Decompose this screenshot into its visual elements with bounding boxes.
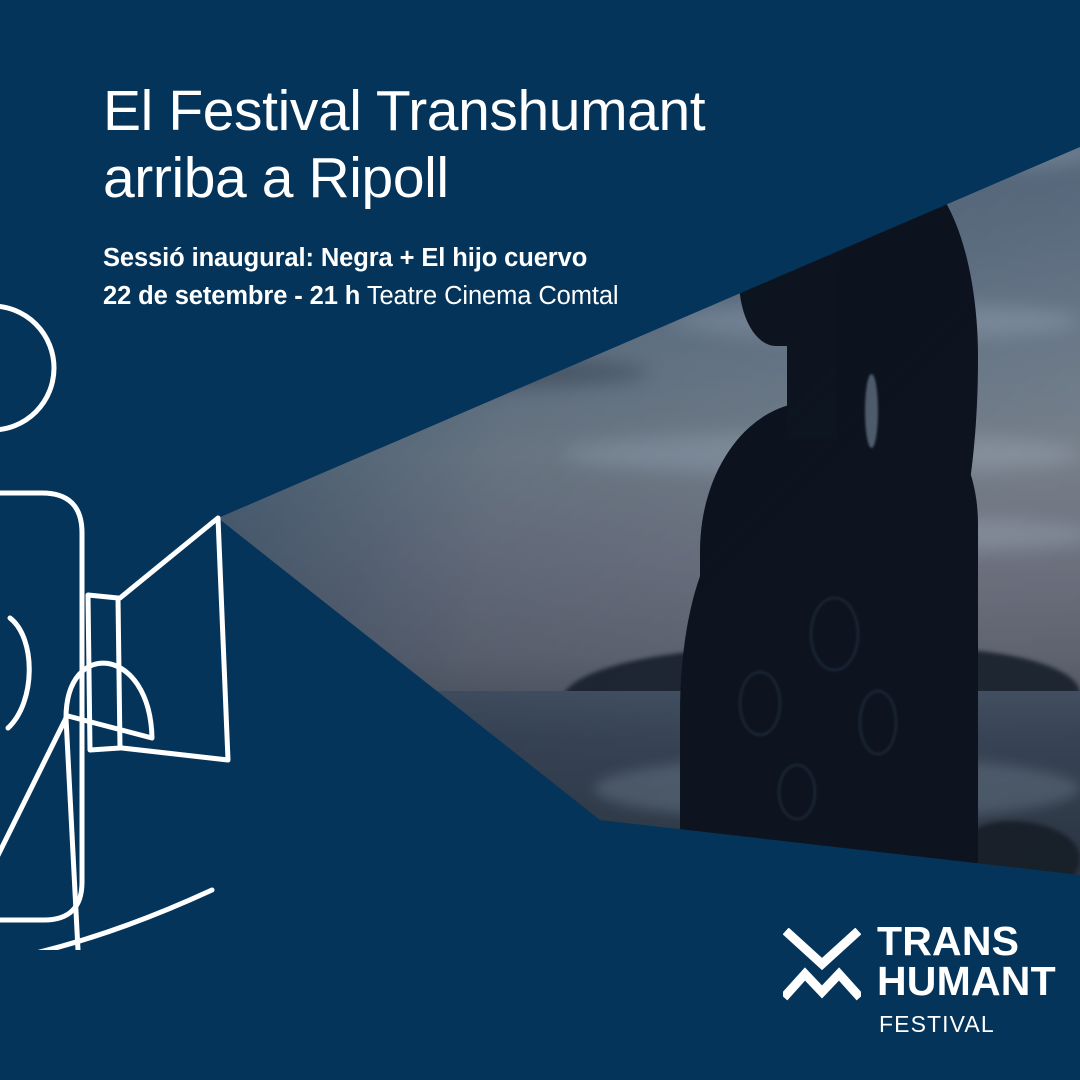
- logo-word-trans: TRANS: [877, 922, 1056, 962]
- film-reel-lower: [8, 618, 29, 728]
- logo-wordmark: TRANS HUMANT FESTIVAL: [877, 922, 1056, 1038]
- cloud-band: [756, 130, 1080, 173]
- session-label: Sessió inaugural: Negra + El hijo cuervo: [103, 244, 587, 272]
- text-block: El Festival Transhumant arriba a Ripoll …: [103, 78, 763, 315]
- venue: Teatre Cinema Comtal: [367, 282, 619, 310]
- date-time: 22 de setembre - 21 h: [103, 282, 360, 310]
- camera-body: [0, 493, 82, 920]
- festival-logo: TRANS HUMANT FESTIVAL: [783, 922, 1056, 1038]
- tripod-leg-left: [0, 718, 66, 940]
- subtitle-group: Sessió inaugural: Negra + El hijo cuervo…: [103, 240, 763, 314]
- logo-word-humant: HUMANT: [877, 962, 1056, 1002]
- film-reel-upper: [0, 306, 54, 430]
- poster-canvas: El Festival Transhumant arriba a Ripoll …: [0, 0, 1080, 1080]
- chevron-down-icon: [789, 934, 855, 964]
- headline-line-1: El Festival Transhumant: [103, 79, 705, 143]
- page-title: El Festival Transhumant arriba a Ripoll: [103, 78, 763, 211]
- tripod-spreader: [66, 663, 152, 738]
- session-line: Sessió inaugural: Negra + El hijo cuervo: [103, 240, 763, 277]
- zigzag-up-icon: [787, 974, 857, 994]
- logo-tagline: FESTIVAL: [879, 1011, 1056, 1038]
- chevron-zigzag-mark-icon: [783, 928, 861, 1002]
- projection-screen-frame: [120, 518, 228, 760]
- movie-camera-illustration: [0, 250, 260, 950]
- datetime-venue-line: 22 de setembre - 21 h Teatre Cinema Comt…: [103, 278, 763, 315]
- headline-line-2: arriba a Ripoll: [103, 146, 449, 210]
